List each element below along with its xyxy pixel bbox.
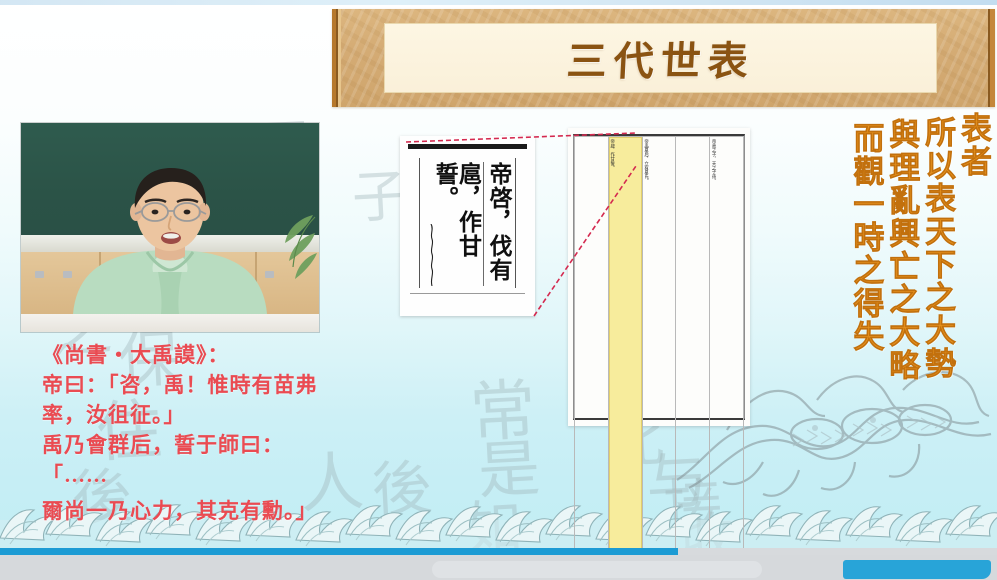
table-cell-text: 帝堯之子，天之子孫。 xyxy=(711,139,716,548)
instructor-video-feed[interactable] xyxy=(21,123,319,332)
magnified-excerpt-box: 帝啓，伐有 扈，作甘誓。 xyxy=(400,136,535,316)
quote-line: 禹乃會群后，誓于師曰： xyxy=(42,430,392,460)
quote-line: 《尚書‧大禹謨》： xyxy=(42,340,392,370)
title-panel: 三代世表 xyxy=(384,23,937,93)
vertical-column-1: 表者 xyxy=(956,112,989,178)
table-row: 帝啟，作甘誓。帝禹夏后，立有夏氏。帝堯之子，天之子孫。 xyxy=(575,137,744,549)
slide-canvas: 何和可之保住後常是如人後与接收此子下 xyxy=(0,0,997,548)
table-cell-text: 帝禹夏后，立有夏氏。 xyxy=(644,139,649,548)
table-cell-text: 帝啟，作甘誓。 xyxy=(610,139,615,548)
scan-grid: 帝啟，作甘誓。帝禹夏后，立有夏氏。帝堯之子，天之子孫。殷契母簡狄，有娀氏。殷，契… xyxy=(574,136,744,548)
video-progress-fill xyxy=(0,548,678,555)
vertical-column-4: 而觀一時之得失 xyxy=(849,112,882,353)
quote-line: 「…… xyxy=(42,460,392,490)
toolbar-action-button[interactable] xyxy=(843,560,991,579)
player-toolbar xyxy=(0,555,997,580)
table-cell: 帝堯之子，天之子孫。 xyxy=(710,137,744,549)
screen-root: 何和可之保住後常是如人後与接收此子下 xyxy=(0,0,997,580)
highlighted-table-cell: 帝啟，作甘誓。 xyxy=(608,137,642,549)
red-quotation-block: 《尚書‧大禹謨》： 帝曰：「咨，禹！惟時有苗弗 率，汝徂征。」 禹乃會群后，誓于… xyxy=(42,340,392,526)
watermark-glyph: 是 xyxy=(476,438,541,503)
quote-line: 爾尚一乃心力，其克有勳。」 xyxy=(42,496,392,526)
watermark-glyph: 如 xyxy=(463,499,524,548)
watermark-glyph: 常 xyxy=(468,378,537,447)
emphasis-wavy-line xyxy=(430,224,434,286)
desk-surface xyxy=(21,314,319,332)
excerpt-column-2: 扈，作甘誓。 xyxy=(430,162,484,286)
video-progress-track[interactable] xyxy=(0,548,997,555)
quote-line: 帝曰：「咨，禹！惟時有苗弗 xyxy=(42,370,392,400)
scan-sheet: 帝啟，作甘誓。帝禹夏后，立有夏氏。帝堯之子，天之子孫。殷契母簡狄，有娀氏。殷，契… xyxy=(573,134,745,420)
vertical-definition-text: 而觀一時之得失 與理亂興亡之大略 所以表天下之大勢 表者 xyxy=(846,112,989,532)
cabinet-handle xyxy=(35,271,44,278)
table-cell xyxy=(676,137,710,549)
excerpt-columns: 帝啓，伐有 扈，作甘誓。 xyxy=(422,162,513,286)
excerpt-bottom-rule xyxy=(410,293,525,294)
excerpt-top-rule xyxy=(408,144,527,149)
page-title: 三代世表 xyxy=(565,29,756,87)
vertical-column-2: 所以表天下之大勢 xyxy=(920,112,953,380)
excerpt-column-1: 帝啓，伐有 xyxy=(484,162,513,286)
quote-line: 率，汝徂征。」 xyxy=(42,400,392,430)
title-banner: 三代世表 xyxy=(332,9,995,107)
top-edge-strip xyxy=(0,0,997,5)
table-cell: 帝禹夏后，立有夏氏。 xyxy=(642,137,676,549)
instructor xyxy=(55,164,285,314)
table-cell xyxy=(575,137,609,549)
toolbar-center-pill[interactable] xyxy=(432,561,762,578)
vertical-column-3: 與理亂興亡之大略 xyxy=(884,112,917,382)
scanned-genealogy-table: 帝啟，作甘誓。帝禹夏后，立有夏氏。帝堯之子，天之子孫。殷契母簡狄，有娀氏。殷，契… xyxy=(568,128,750,426)
